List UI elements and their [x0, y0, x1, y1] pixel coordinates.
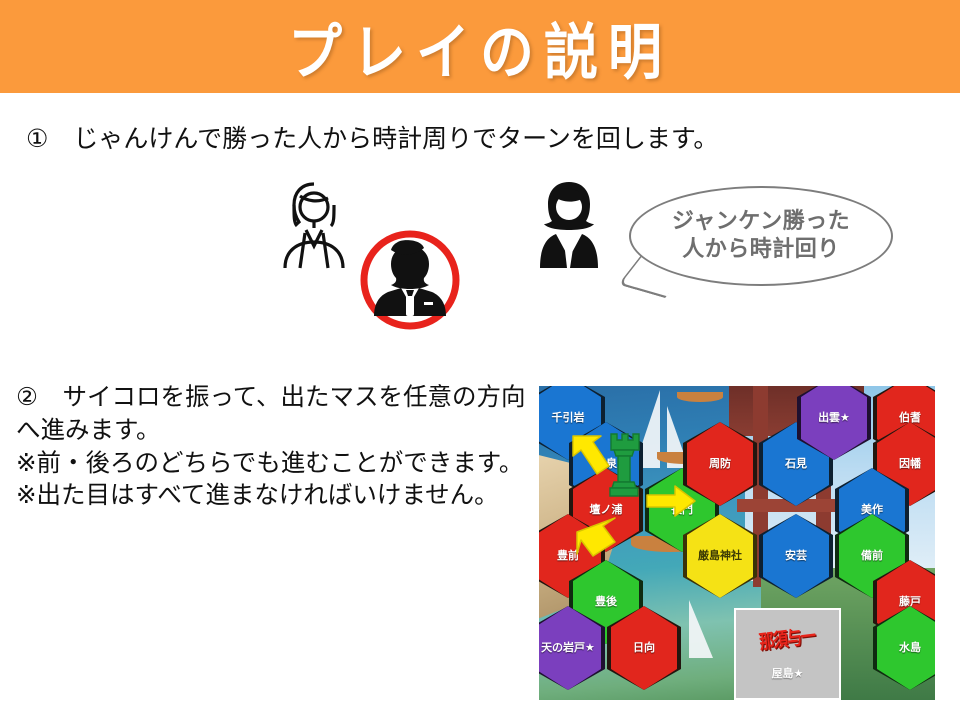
- speech-bubble-line-2: 人から時計回り: [682, 236, 840, 264]
- hex-tile-label: 千引岩: [552, 412, 585, 424]
- green-rook-token-icon: [607, 430, 641, 500]
- hex-tile-label: 因幡: [899, 458, 921, 470]
- hex-tile-label: 天の岩戸★: [541, 642, 595, 654]
- hex-tile-label: 水島: [899, 642, 921, 654]
- step-2-line-2: へ進みます。: [16, 414, 536, 447]
- step-2-text: ② サイコロを振って、出たマスを任意の方向 へ進みます。 ※前・後ろのどちらでも…: [16, 381, 536, 512]
- female-outline-avatar-icon: [272, 176, 356, 272]
- step-2-line-3: ※前・後ろのどちらでも進むことができます。: [16, 447, 536, 480]
- board-bg-boat-3: [677, 392, 723, 402]
- board-info-card: 那須与一 屋島★: [734, 608, 841, 700]
- hex-tile-label: 石見: [785, 458, 807, 470]
- slide-root: プレイの説明 ① じゃんけんで勝った人から時計周りでターンを回します。: [0, 0, 960, 720]
- speech-bubble-line-1: ジャンケン勝った: [672, 208, 850, 236]
- female-solid-avatar-icon: [527, 176, 611, 272]
- hex-tile-label: 厳島神社: [698, 550, 742, 562]
- hex-tile-label: 備前: [861, 550, 883, 562]
- step-2-line-4: ※出た目はすべて進まなければいけません。: [16, 479, 536, 512]
- speech-bubble-text: ジャンケン勝った 人から時計回り: [629, 186, 893, 286]
- arrow-down-left-icon: [575, 512, 621, 562]
- title-banner: プレイの説明: [0, 0, 960, 93]
- male-solid-avatar-circled-icon: [358, 228, 462, 332]
- game-board-image: 千引岩和泉壇ノ浦豊前豊後天の岩戸★日向長門周防厳島神社石見安芸出雲★伯耆因幡美作…: [539, 386, 935, 700]
- card-label: 屋島★: [772, 665, 804, 681]
- hex-tile-label: 日向: [633, 642, 655, 654]
- step-2-line-1: ② サイコロを振って、出たマスを任意の方向: [16, 381, 536, 414]
- arrow-right-icon: [645, 484, 697, 518]
- hex-tile-label: 豊後: [595, 596, 617, 608]
- speech-bubble: ジャンケン勝った 人から時計回り: [629, 186, 893, 286]
- page-title: プレイの説明: [288, 2, 672, 90]
- hex-tile-label: 安芸: [785, 550, 807, 562]
- hex-tile-label: 出雲★: [818, 412, 850, 424]
- board-bg-sail-4: [689, 600, 713, 658]
- hex-tile-label: 周防: [709, 458, 731, 470]
- card-art-text: 那須与一: [758, 621, 817, 655]
- step-1-text: ① じゃんけんで勝った人から時計周りでターンを回します。: [26, 119, 718, 155]
